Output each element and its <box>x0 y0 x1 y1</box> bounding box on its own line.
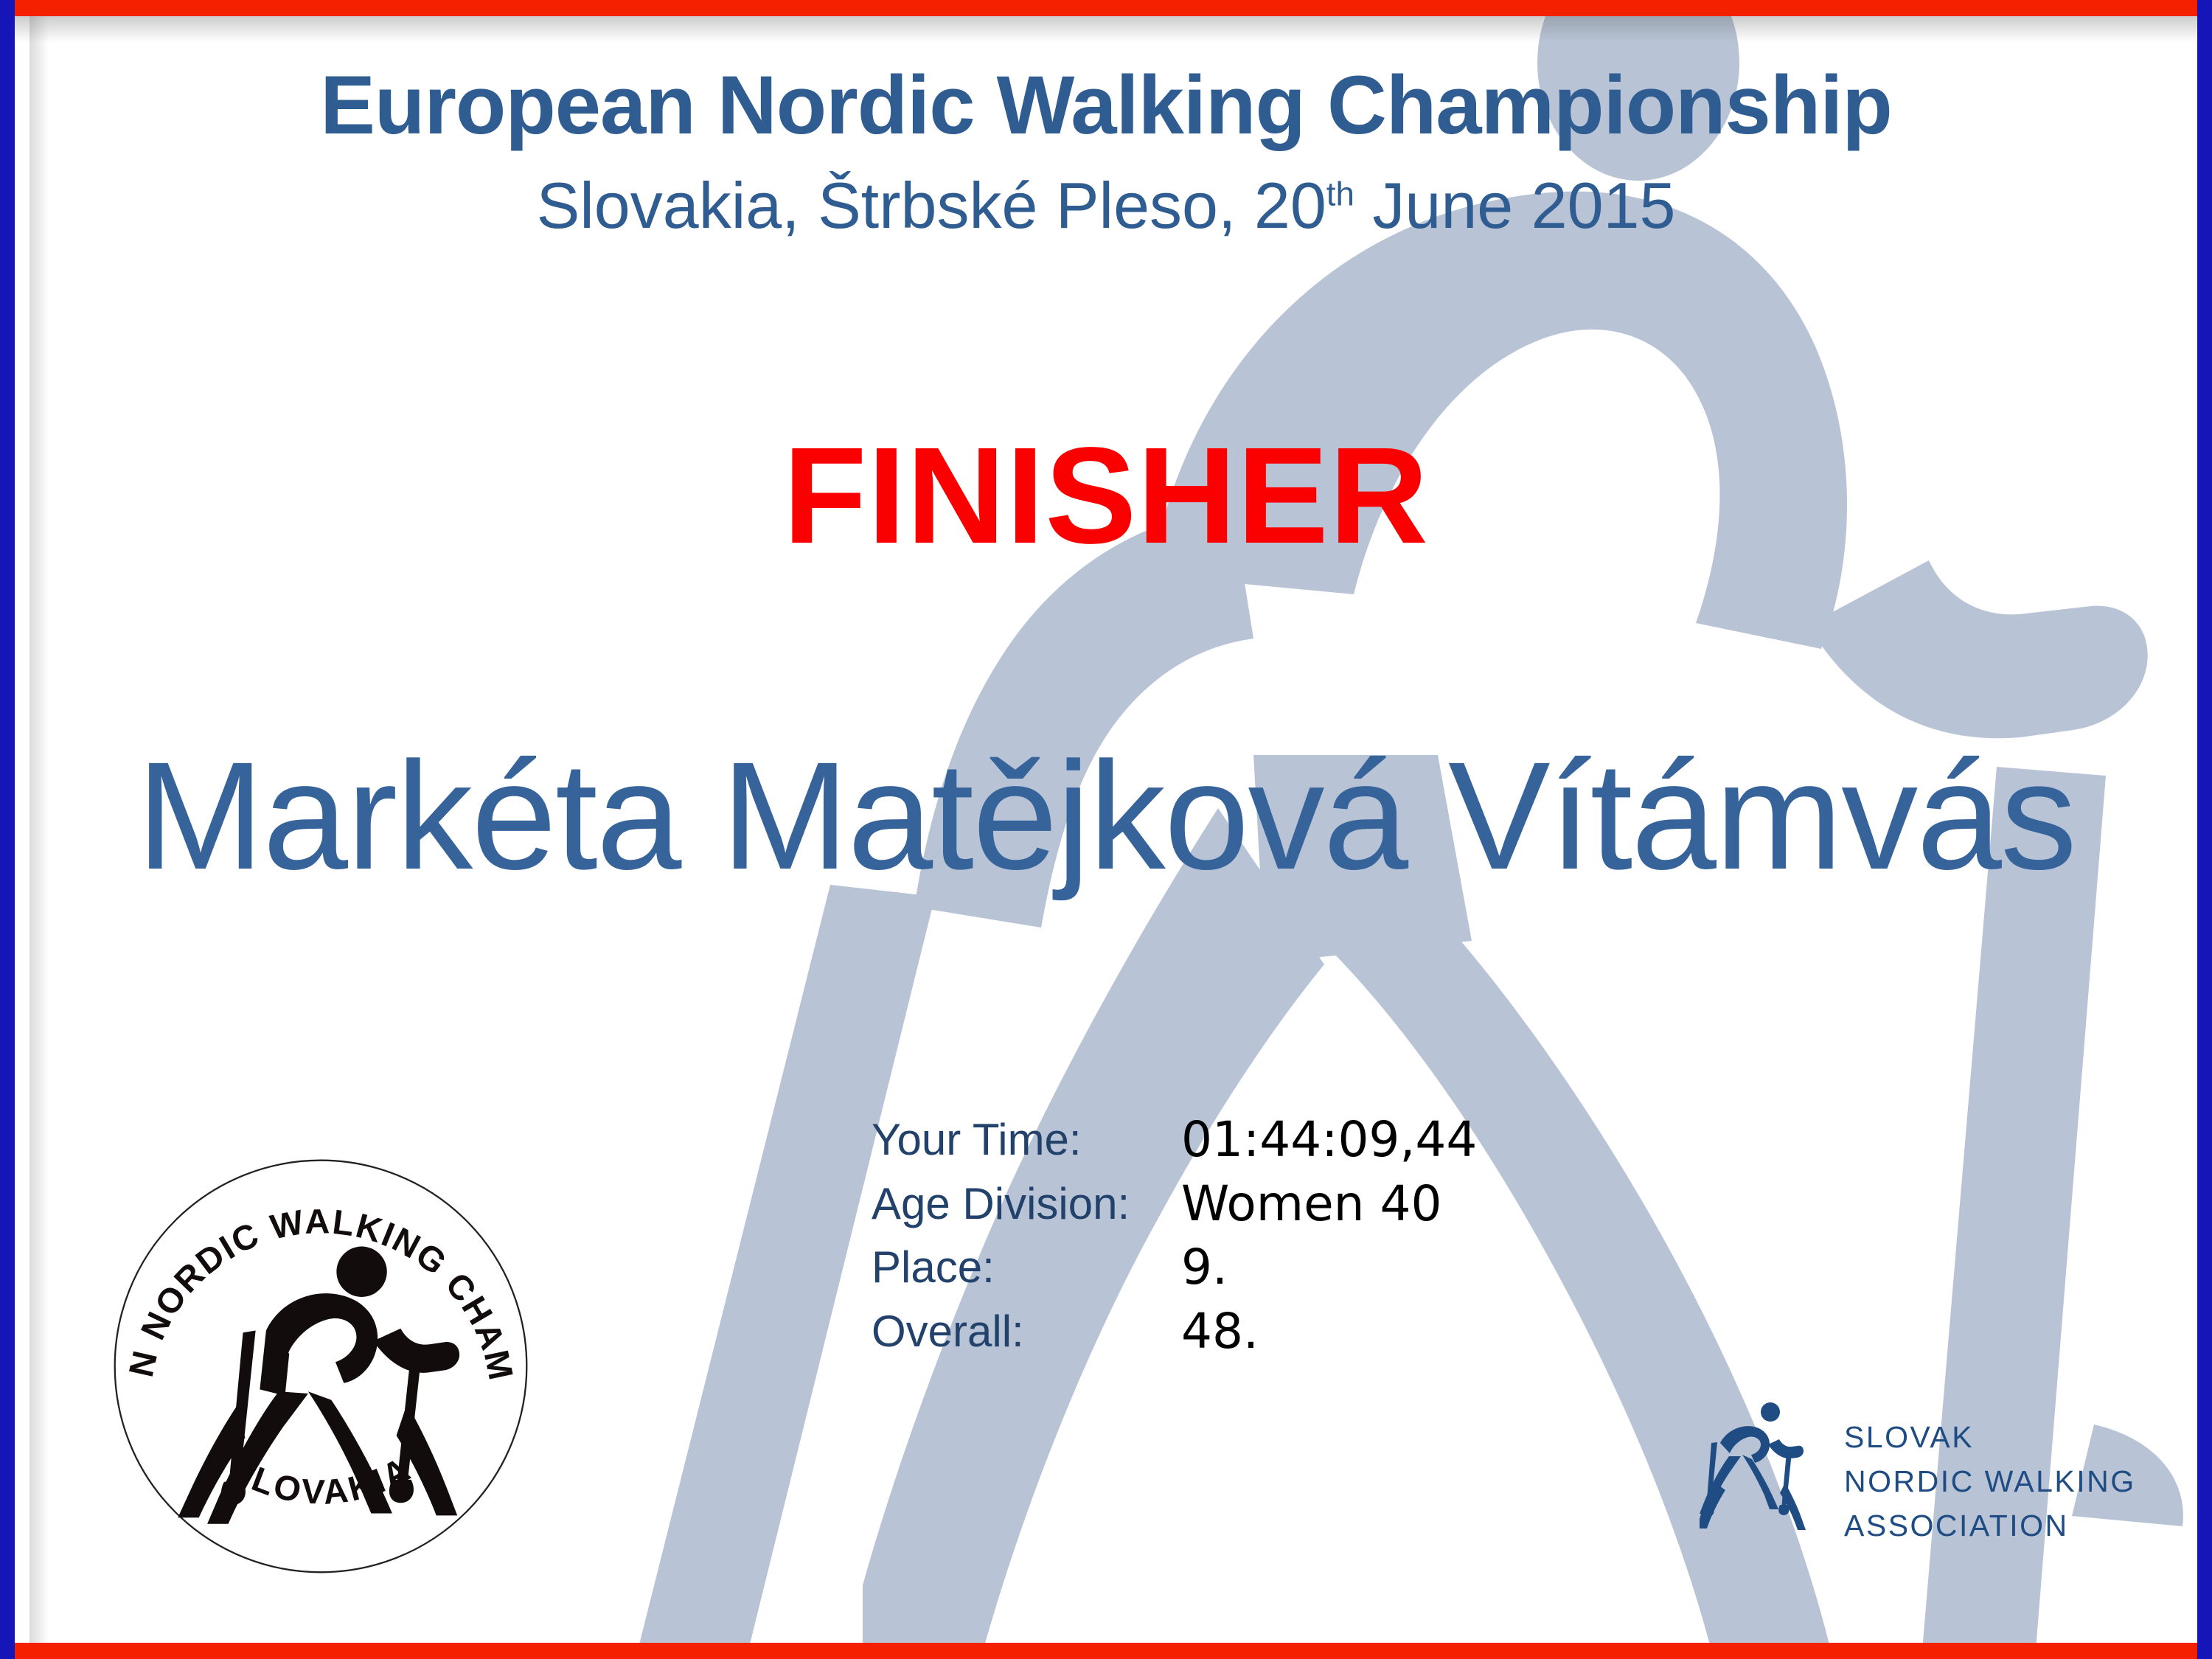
event-location-date: Slovakia, Štrbské Pleso, 20th June 2015 <box>0 170 2212 242</box>
result-label-place: Place: <box>872 1238 1181 1298</box>
athlete-name-row: Markéta Matějková Vítámvás <box>0 726 2212 907</box>
results-block: Your Time: 01:44:09,44 Age Division: Wom… <box>872 1110 1477 1361</box>
border-top <box>0 0 2212 16</box>
association-line-2: NORDIC WALKING <box>1844 1460 2136 1504</box>
result-value-overall: 48. <box>1181 1302 1477 1362</box>
association-line-3: ASSOCIATION <box>1844 1504 2136 1548</box>
finisher-certificate: European Nordic Walking Championship Slo… <box>0 0 2212 1659</box>
status-banner: FINISHER <box>0 428 2212 565</box>
event-title: European Nordic Walking Championship <box>0 59 2212 151</box>
border-left <box>0 0 15 1659</box>
result-value-age-division: Women 40 <box>1181 1175 1477 1234</box>
association-walker-icon <box>1700 1397 1825 1567</box>
result-label-overall: Overall: <box>872 1302 1181 1362</box>
border-right <box>2197 0 2212 1659</box>
location-date-suffix: June 2015 <box>1354 169 1676 242</box>
result-value-place: 9. <box>1181 1238 1477 1298</box>
athlete-name: Markéta Matějková Vítámvás <box>136 726 2076 907</box>
certificate-header: European Nordic Walking Championship Slo… <box>0 59 2212 242</box>
location-date-prefix: Slovakia, Štrbské Pleso, 20 <box>537 169 1326 242</box>
result-label-your-time: Your Time: <box>872 1110 1181 1170</box>
result-value-your-time: 01:44:09,44 <box>1181 1110 1477 1170</box>
association-name-text: SLOVAK NORDIC WALKING ASSOCIATION <box>1844 1416 2136 1548</box>
border-bottom <box>0 1643 2212 1659</box>
inner-shadow-top <box>15 16 2197 43</box>
result-label-age-division: Age Division: <box>872 1175 1181 1234</box>
date-ordinal-suffix: th <box>1326 175 1354 213</box>
status-badge: FINISHER <box>783 428 1429 565</box>
association-logo: SLOVAK NORDIC WALKING ASSOCIATION <box>1700 1390 2142 1574</box>
association-line-1: SLOVAK <box>1844 1416 2136 1460</box>
championship-logo: EUROPEAN NORDIC WALKING CHAMPIONSHIP SLO… <box>111 1156 531 1576</box>
